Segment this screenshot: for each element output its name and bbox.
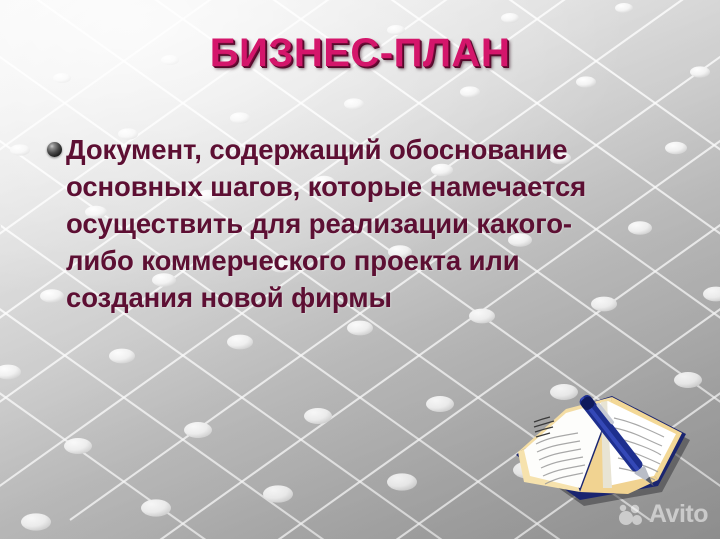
slide-body-text: Документ, содержащий обоснование основны… [66, 131, 679, 316]
slide-title: БИЗНЕС-ПЛАН [0, 31, 720, 76]
open-book-with-pen-icon [508, 360, 693, 510]
presentation-slide: БИЗНЕС-ПЛАН Документ, содержащий обоснов… [0, 0, 720, 539]
bullet-paragraph-block: Документ, содержащий обоснование основны… [47, 131, 679, 316]
sphere-bullet-icon [47, 142, 62, 157]
